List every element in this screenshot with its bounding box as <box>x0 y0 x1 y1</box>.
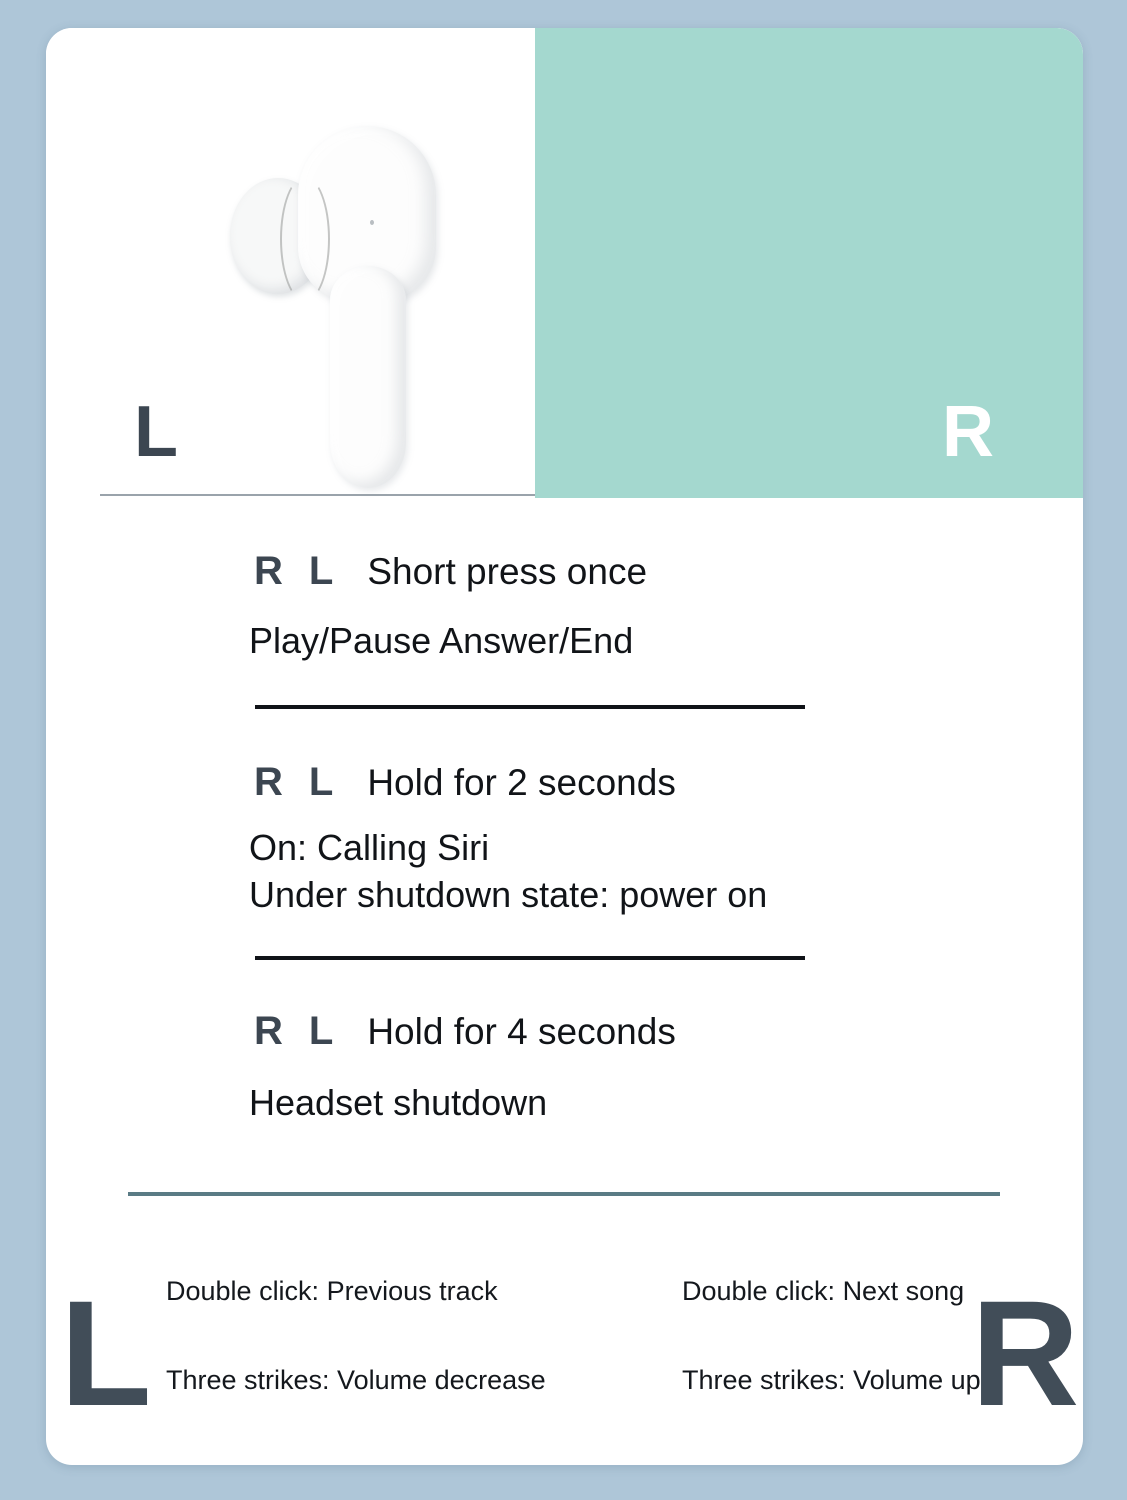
instruction-headline: R L Hold for 4 seconds <box>254 1010 1083 1052</box>
legend-line-three-strikes: Three strikes: Volume decrease <box>166 1367 546 1394</box>
instruction-detail: On: Calling SiriUnder shutdown state: po… <box>249 825 1083 919</box>
legend-line-double-click: Double click: Previous track <box>166 1278 546 1305</box>
channel-badge-l: L <box>309 761 333 803</box>
photo-band-rule <box>100 494 535 496</box>
instruction-row: R L Hold for 2 seconds On: Calling SiriU… <box>46 709 1083 919</box>
instruction-card: L R R L Short press once Play/Pause Answ… <box>46 28 1083 1465</box>
photo-panel-right <box>535 28 1083 498</box>
photo-channel-label-right: R <box>942 396 994 468</box>
product-instruction-graphic: L R R L Short press once Play/Pause Answ… <box>0 0 1127 1500</box>
instruction-row: R L Short press once Play/Pause Answer/E… <box>46 498 1083 665</box>
product-photo-band: L R <box>46 28 1083 498</box>
earbud-mic-dot-icon <box>370 220 374 225</box>
instruction-list: R L Short press once Play/Pause Answer/E… <box>46 498 1083 1127</box>
legend-line-double-click: Double click: Next song <box>682 1278 981 1305</box>
channel-badge-l: L <box>309 550 333 592</box>
instruction-action: Hold for 4 seconds <box>367 1013 676 1052</box>
earbud-seam-icon <box>280 176 330 302</box>
photo-panel-left <box>46 28 535 498</box>
instruction-detail: Play/Pause Answer/End <box>249 618 1083 665</box>
channel-badge-r: R <box>254 761 283 803</box>
legend-column-left: Double click: Previous track Three strik… <box>166 1278 546 1394</box>
instruction-action: Hold for 2 seconds <box>367 764 676 803</box>
instruction-headline: R L Short press once <box>254 550 1083 592</box>
section-separator <box>128 1192 1000 1196</box>
earbud-left-illustration <box>224 126 484 486</box>
instruction-headline: R L Hold for 2 seconds <box>254 761 1083 803</box>
legend-channel-label-right: R <box>971 1278 1079 1428</box>
earbud-stem-icon <box>330 266 406 488</box>
instruction-detail: Headset shutdown <box>249 1080 1083 1127</box>
channel-badge-l: L <box>309 1010 333 1052</box>
channel-badge-r: R <box>254 1010 283 1052</box>
instruction-action: Short press once <box>367 553 647 592</box>
channel-badge-r: R <box>254 550 283 592</box>
legend-line-three-strikes: Three strikes: Volume up <box>682 1367 981 1394</box>
photo-channel-label-left: L <box>134 396 178 468</box>
instruction-row: R L Hold for 4 seconds Headset shutdown <box>46 960 1083 1127</box>
legend-column-right: Double click: Next song Three strikes: V… <box>682 1278 981 1394</box>
legend-channel-label-left: L <box>60 1278 152 1428</box>
